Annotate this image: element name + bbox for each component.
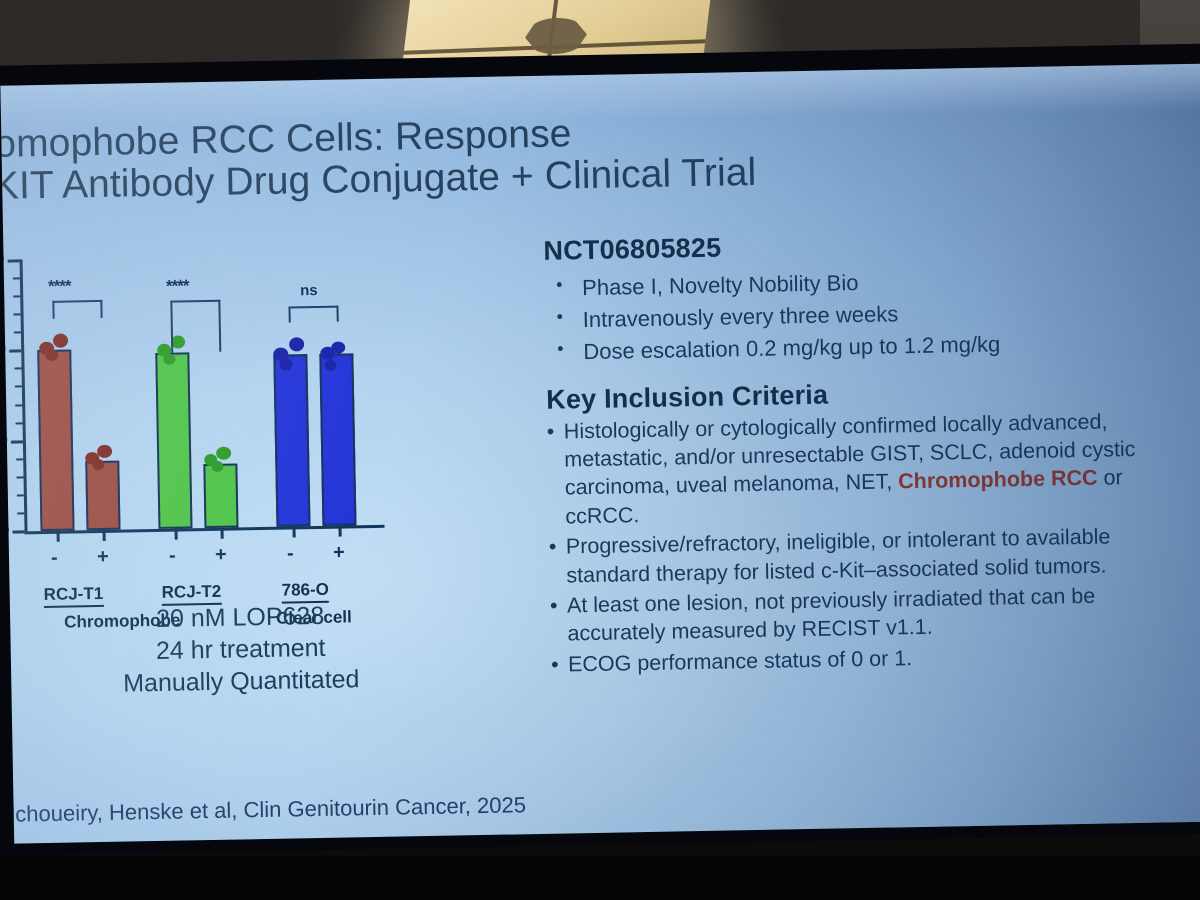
screen-glare xyxy=(0,64,1200,844)
slide-surface: hromophobe RCC Cells: Response o KIT Ant… xyxy=(0,64,1200,844)
photograph-of-projected-slide: hromophobe RCC Cells: Response o KIT Ant… xyxy=(0,0,1200,900)
projection-screen: hromophobe RCC Cells: Response o KIT Ant… xyxy=(0,43,1200,855)
lower-dark-band xyxy=(0,856,1200,900)
